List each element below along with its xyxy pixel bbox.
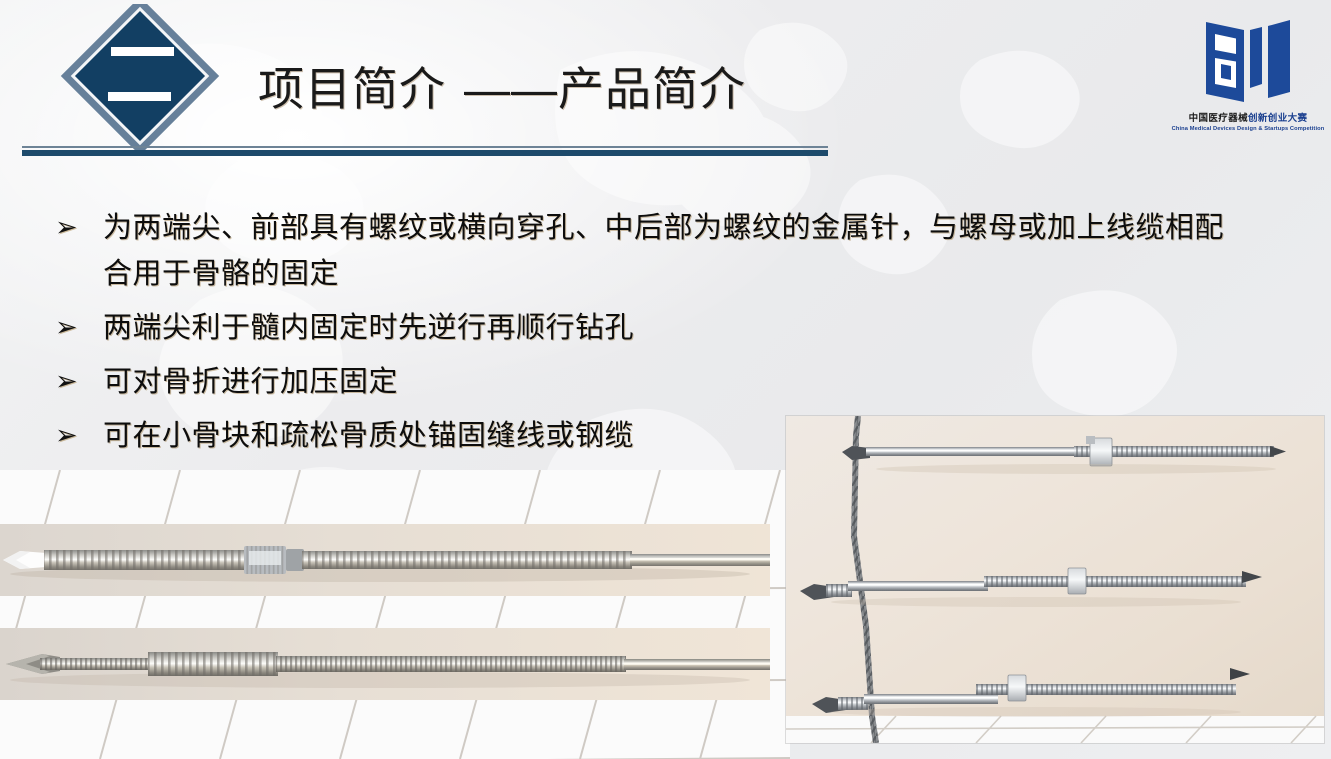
competition-logo: 中国医疗器械创新创业大赛 China Medical Devices Desig…: [1173, 14, 1323, 166]
double-bar-diamond-icon: [40, 4, 240, 154]
list-item: ➢ 两端尖利于髓内固定时先逆行再顺行钻孔: [55, 305, 1235, 351]
list-item-label: 可对骨折进行加压固定: [103, 359, 1235, 405]
bullet-arrow-icon: ➢: [55, 359, 103, 405]
title-dash: ——: [464, 63, 558, 115]
product-pin-photo-trocar-tip: [0, 628, 770, 700]
list-item-label: 为两端尖、前部具有螺纹或横向穿孔、中后部为螺纹的金属针，与螺母或加上线缆相配合用…: [103, 205, 1235, 297]
competition-logo-name-cn-plain: 中国医疗器械: [1189, 113, 1248, 124]
product-assembly-photo-pins-nuts-cable: [786, 416, 1324, 743]
product-pin-photo-threaded-tip: [0, 524, 770, 596]
title-rule-thick: [22, 150, 828, 156]
bullet-arrow-icon: ➢: [55, 205, 103, 251]
competition-logo-name-cn-accent: 创新创业大赛: [1248, 113, 1307, 124]
title-rule-thin: [22, 146, 828, 148]
list-item: ➢ 可对骨折进行加压固定: [55, 359, 1235, 405]
competition-logo-name-cn: 中国医疗器械创新创业大赛: [1173, 114, 1323, 124]
title-secondary: 产品简介: [558, 63, 746, 115]
list-item: ➢ 为两端尖、前部具有螺纹或横向穿孔、中后部为螺纹的金属针，与螺母或加上线缆相配…: [55, 205, 1235, 297]
list-item-label: 两端尖利于髓内固定时先逆行再顺行钻孔: [103, 305, 1235, 351]
tiled-floor-backdrop: [0, 470, 790, 759]
open-book-door-icon: [1200, 14, 1296, 110]
slide: 项目简介——产品简介: [0, 0, 1331, 759]
bullet-arrow-icon: ➢: [55, 413, 103, 459]
page-title: 项目简介——产品简介: [258, 64, 746, 115]
title-primary: 项目简介: [258, 63, 446, 115]
bullet-arrow-icon: ➢: [55, 305, 103, 351]
competition-logo-name-en: China Medical Devices Design & Startups …: [1172, 126, 1325, 132]
slide-header: 项目简介——产品简介: [0, 0, 1331, 175]
